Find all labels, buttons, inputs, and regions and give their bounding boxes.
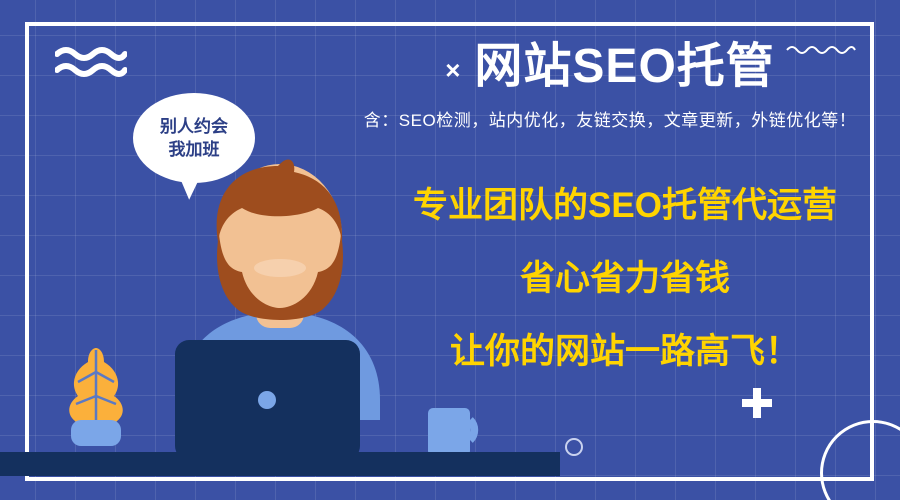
coffee-mug-icon [428,408,474,456]
x-mark-icon: × [445,57,460,83]
headline-block: × 网站SEO托管 含：SEO检测，站内优化，友链交换，文章更新，外链优化等！ [330,42,890,131]
slogan-line: 专业团队的SEO托管代运营 [360,188,890,223]
speech-bubble-line-2: 我加班 [169,139,220,160]
seo-banner: 别人约会 我加班 × 网站SEO托管 含：SEO检测，站内优化，友链交换，文章更… [0,0,900,500]
small-circle-icon [565,438,583,456]
slogan-line: 省心省力省钱 [360,261,890,296]
speech-bubble-text: 别人约会 我加班 [133,93,255,183]
potted-plant-icon [69,348,123,446]
speech-bubble: 别人约会 我加班 [133,93,255,183]
slogan-line: 让你的网站一路高飞！ [360,334,890,369]
page-title: 网站SEO托管 [474,42,774,92]
slogan-list: 专业团队的SEO托管代运营 省心省力省钱 让你的网站一路高飞！ [360,188,890,369]
laptop-icon [175,340,360,460]
speech-bubble-line-1: 别人约会 [160,116,228,137]
desk-surface [0,452,560,476]
title-row: × 网站SEO托管 [330,42,890,92]
page-subtitle: 含：SEO检测，站内优化，友链交换，文章更新，外链优化等！ [330,106,890,131]
plus-icon [742,388,772,418]
